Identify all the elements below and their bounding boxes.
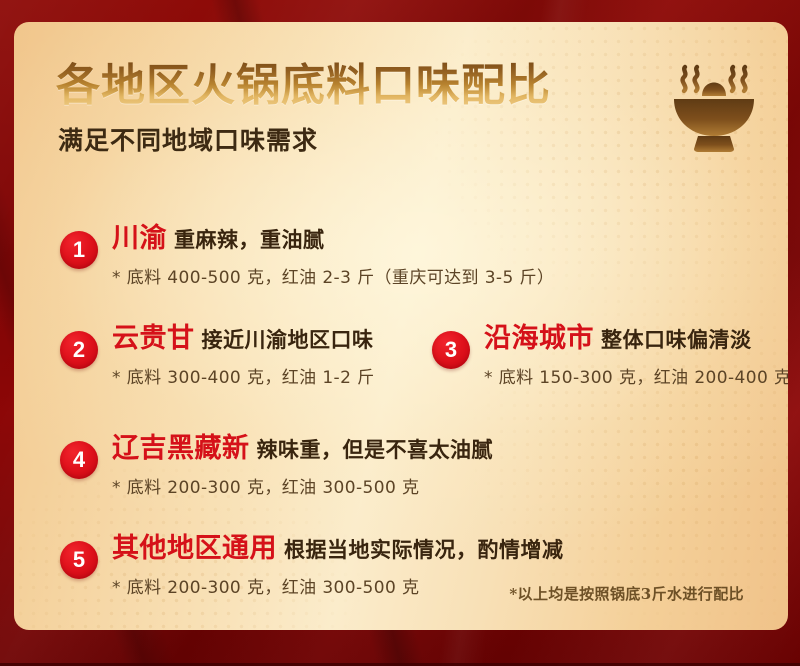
list-item: 3 沿海城市整体口味偏清淡 * 底料 150-300 克，红油 200-400 … bbox=[432, 322, 788, 388]
item-number-badge: 4 bbox=[60, 441, 98, 479]
list-item-body: 沿海城市整体口味偏清淡 * 底料 150-300 克，红油 200-400 克 bbox=[484, 322, 788, 388]
item-number-badge: 2 bbox=[60, 331, 98, 369]
region-description: 根据当地实际情况，酌情增减 bbox=[284, 538, 564, 562]
list-item-body: 其他地区通用根据当地实际情况，酌情增减 * 底料 200-300 克，红油 30… bbox=[112, 532, 564, 598]
region-note: * 底料 150-300 克，红油 200-400 克 bbox=[484, 363, 788, 388]
list-item-heading: 川渝重麻辣，重油腻 bbox=[112, 222, 554, 256]
region-description: 辣味重，但是不喜太油腻 bbox=[257, 438, 494, 462]
item-number-badge: 5 bbox=[60, 541, 98, 579]
list-item: 1 川渝重麻辣，重油腻 * 底料 400-500 克，红油 2-3 斤（重庆可达… bbox=[60, 222, 554, 288]
list-item: 2 云贵甘接近川渝地区口味 * 底料 300-400 克，红油 1-2 斤 bbox=[60, 322, 375, 388]
footnote: *以上均是按照锅底3斤水进行配比 bbox=[509, 583, 744, 604]
list-item-heading: 云贵甘接近川渝地区口味 bbox=[112, 322, 375, 356]
poster-root: 各地区火锅底料口味配比 满足不同地域口味需求 bbox=[0, 0, 800, 666]
region-note: * 底料 200-300 克，红油 300-500 克 bbox=[112, 573, 564, 598]
item-number-badge: 1 bbox=[60, 231, 98, 269]
region-list: 1 川渝重麻辣，重油腻 * 底料 400-500 克，红油 2-3 斤（重庆可达… bbox=[14, 22, 788, 630]
region-name: 辽吉黑藏新 bbox=[112, 433, 250, 464]
region-description: 整体口味偏清淡 bbox=[601, 328, 752, 352]
region-description: 接近川渝地区口味 bbox=[202, 328, 374, 352]
list-item-body: 辽吉黑藏新辣味重，但是不喜太油腻 * 底料 200-300 克，红油 300-5… bbox=[112, 432, 493, 498]
region-note: * 底料 200-300 克，红油 300-500 克 bbox=[112, 473, 493, 498]
content-card: 各地区火锅底料口味配比 满足不同地域口味需求 bbox=[14, 22, 788, 630]
list-item-heading: 沿海城市整体口味偏清淡 bbox=[484, 322, 788, 356]
list-item-body: 川渝重麻辣，重油腻 * 底料 400-500 克，红油 2-3 斤（重庆可达到 … bbox=[112, 222, 554, 288]
region-note: * 底料 400-500 克，红油 2-3 斤（重庆可达到 3-5 斤） bbox=[112, 263, 554, 288]
region-note: * 底料 300-400 克，红油 1-2 斤 bbox=[112, 363, 375, 388]
region-name: 其他地区通用 bbox=[112, 533, 277, 564]
region-name: 川渝 bbox=[112, 223, 167, 254]
region-name: 沿海城市 bbox=[484, 323, 594, 354]
region-description: 重麻辣，重油腻 bbox=[174, 228, 325, 252]
list-item: 4 辽吉黑藏新辣味重，但是不喜太油腻 * 底料 200-300 克，红油 300… bbox=[60, 432, 493, 498]
item-number-badge: 3 bbox=[432, 331, 470, 369]
region-name: 云贵甘 bbox=[112, 323, 195, 354]
list-item-heading: 其他地区通用根据当地实际情况，酌情增减 bbox=[112, 532, 564, 566]
list-item-heading: 辽吉黑藏新辣味重，但是不喜太油腻 bbox=[112, 432, 493, 466]
list-item: 5 其他地区通用根据当地实际情况，酌情增减 * 底料 200-300 克，红油 … bbox=[60, 532, 564, 598]
list-item-body: 云贵甘接近川渝地区口味 * 底料 300-400 克，红油 1-2 斤 bbox=[112, 322, 375, 388]
